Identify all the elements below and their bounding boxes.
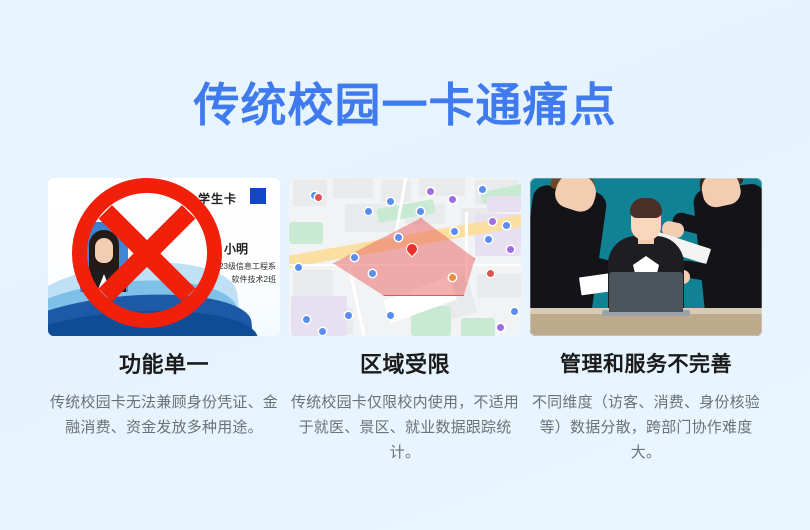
map-poi-dot bbox=[451, 228, 458, 235]
map-poi-dot bbox=[369, 270, 376, 277]
map-poi-dot bbox=[319, 328, 326, 335]
map-poi-dot bbox=[449, 196, 456, 203]
map-poi-dot bbox=[351, 254, 358, 261]
card-body-text: 传统校园卡无法兼顾身份凭证、金融消费、资金发放多种用途。 bbox=[48, 390, 280, 440]
office-illustration bbox=[530, 178, 762, 336]
map-poi-dot bbox=[503, 222, 510, 229]
pain-point-card-list: 学生卡 小明 23级信息工程系 软件技术2班 功能单一 传统校园卡无法兼顾身份凭… bbox=[48, 178, 762, 465]
map-poi-dot bbox=[485, 236, 492, 243]
map-block bbox=[477, 274, 521, 298]
map-poi-dot bbox=[395, 234, 402, 241]
map-illustration bbox=[289, 178, 521, 336]
map-block bbox=[333, 178, 373, 198]
map-poi-dot bbox=[295, 264, 302, 271]
card-heading: 区域受限 bbox=[289, 352, 521, 378]
card-heading: 功能单一 bbox=[48, 352, 280, 378]
student-department: 23级信息工程系 bbox=[166, 260, 276, 273]
desk-front bbox=[530, 314, 762, 336]
page-title: 传统校园一卡通痛点 bbox=[0, 78, 810, 132]
map-poi-dot bbox=[507, 246, 514, 253]
map-poi-dot bbox=[427, 188, 434, 195]
pain-point-card-management: 管理和服务不完善 不同维度（访客、消费、身份核验等）数据分散，跨部门协作难度大。 bbox=[530, 178, 762, 465]
card-body-text: 传统校园卡仅限校内使用，不适用于就医、景区、就业数据跟踪统计。 bbox=[289, 390, 521, 465]
map-poi-dot bbox=[387, 198, 394, 205]
card-thumbnail-student-card: 学生卡 小明 23级信息工程系 软件技术2班 bbox=[48, 178, 280, 336]
pain-point-card-functionality: 学生卡 小明 23级信息工程系 软件技术2班 功能单一 传统校园卡无法兼顾身份凭… bbox=[48, 178, 280, 465]
map-poi-dot bbox=[489, 218, 496, 225]
map-block bbox=[419, 178, 465, 196]
card-thumbnail-map bbox=[289, 178, 521, 336]
student-photo bbox=[80, 222, 128, 292]
map-block bbox=[293, 180, 327, 206]
map-green-area bbox=[461, 318, 495, 336]
map-lilac-area bbox=[487, 196, 521, 212]
laptop-screen bbox=[609, 272, 683, 312]
map-poi-dot bbox=[449, 274, 456, 281]
photo-face-shape bbox=[95, 238, 113, 263]
student-class: 软件技术2班 bbox=[166, 273, 276, 286]
card-body-text: 不同维度（访客、消费、身份核验等）数据分散，跨部门协作难度大。 bbox=[530, 390, 762, 465]
map-poi-dot bbox=[417, 208, 424, 215]
card-thumbnail-office bbox=[530, 178, 762, 336]
student-id-card-illustration: 学生卡 小明 23级信息工程系 软件技术2班 bbox=[48, 178, 280, 336]
map-poi-dot bbox=[497, 324, 504, 331]
map-poi-dot bbox=[345, 312, 352, 319]
map-green-area bbox=[289, 222, 323, 244]
card-chip-icon bbox=[250, 188, 266, 204]
map-block bbox=[381, 180, 411, 202]
center-person-fringe bbox=[630, 198, 662, 218]
map-poi-dot bbox=[387, 312, 394, 319]
map-poi-dot bbox=[487, 270, 494, 277]
map-poi-dot bbox=[479, 186, 486, 193]
map-poi-dot bbox=[511, 308, 518, 315]
student-card-title: 学生卡 bbox=[198, 190, 237, 207]
map-poi-dot bbox=[303, 316, 310, 323]
map-poi-dot bbox=[365, 208, 372, 215]
pain-point-card-area-limited: 区域受限 传统校园卡仅限校内使用，不适用于就医、景区、就业数据跟踪统计。 bbox=[289, 178, 521, 465]
card-heading: 管理和服务不完善 bbox=[530, 352, 762, 378]
student-meta: 23级信息工程系 软件技术2班 bbox=[166, 260, 276, 286]
student-name: 小明 bbox=[224, 240, 248, 257]
slide-root: 传统校园一卡通痛点 学生卡 小明 bbox=[0, 0, 810, 530]
map-poi-dot bbox=[315, 194, 322, 201]
